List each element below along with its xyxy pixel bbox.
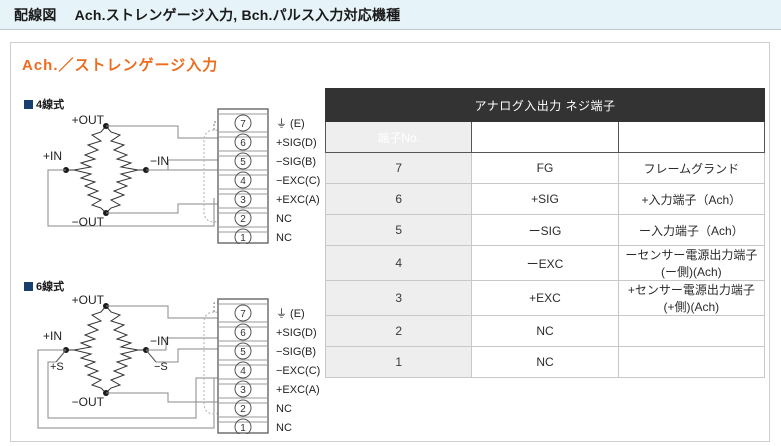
terminal-label-2: NC	[276, 213, 292, 225]
terminal-block-6-wire: 7 6 5 4 3 2 1 ⏚ (E) +SIG(D) −SIG(B) −EXC…	[216, 298, 321, 434]
cell-description: ーセンサー電源出力端子(ー側)(Ach)	[618, 246, 764, 281]
terminal-number-7: 7	[240, 119, 246, 130]
table-row: 6 +SIG +入力端子（Ach）	[326, 184, 765, 215]
cell-signal-name: ーSIG	[472, 215, 618, 246]
table-title: アナログ入出力 ネジ端子	[326, 89, 765, 122]
cell-terminal-no: 6	[326, 184, 472, 215]
terminal-label-5: −SIG(B)	[276, 346, 316, 358]
page-title-subtitle: Ach.ストレンゲージ入力, Bch.パルス入力対応機種	[75, 7, 401, 23]
terminal-number-2: 2	[240, 404, 246, 415]
table-row: 5 ーSIG ー入力端子（Ach）	[326, 215, 765, 246]
terminal-label-6: +SIG(D)	[276, 137, 317, 149]
cell-signal-name: FG	[472, 153, 618, 184]
diagram-4-label-minus-in: −IN	[150, 154, 169, 168]
diagram-6-label-minus-in: −IN	[150, 334, 169, 348]
terminal-label-7: ⏚ (E)	[276, 307, 305, 320]
cell-terminal-no: 5	[326, 215, 472, 246]
cell-signal-name: NC	[472, 316, 618, 347]
terminal-label-1: NC	[276, 422, 292, 434]
cell-terminal-no: 7	[326, 153, 472, 184]
diagram-6-label-minus-out: −OUT	[72, 395, 105, 409]
terminal-label-6: +SIG(D)	[276, 327, 317, 339]
terminal-label-3: +EXC(A)	[276, 194, 320, 206]
cell-description: +センサー電源出力端子(+側)(Ach)	[618, 281, 764, 316]
terminal-number-1: 1	[240, 423, 246, 434]
table-row: 1 NC	[326, 347, 765, 378]
table-row: 3 +EXC +センサー電源出力端子(+側)(Ach)	[326, 281, 765, 316]
table-row: 2 NC	[326, 316, 765, 347]
square-marker-icon	[24, 282, 33, 291]
cell-signal-name: NC	[472, 347, 618, 378]
terminal-number-1: 1	[240, 233, 246, 244]
cell-description	[618, 347, 764, 378]
cell-signal-name: ーEXC	[472, 246, 618, 281]
terminal-number-4: 4	[240, 176, 246, 187]
cell-description: +入力端子（Ach）	[618, 184, 764, 215]
cell-description: ー入力端子（Ach）	[618, 215, 764, 246]
terminal-label-5: −SIG(B)	[276, 156, 316, 168]
terminal-label-3: +EXC(A)	[276, 384, 320, 396]
column-header-terminal-no: 端子No.	[326, 122, 472, 153]
terminal-number-4: 4	[240, 366, 246, 377]
table-row: 4 ーEXC ーセンサー電源出力端子(ー側)(Ach)	[326, 246, 765, 281]
cell-terminal-no: 1	[326, 347, 472, 378]
terminal-label-7: ⏚ (E)	[276, 117, 305, 130]
terminal-label-4: −EXC(C)	[276, 365, 320, 377]
terminal-number-6: 6	[240, 138, 246, 149]
cell-terminal-no: 3	[326, 281, 472, 316]
diagram-4-label-plus-in: +IN	[43, 149, 62, 163]
diagram-6-label-plus-in: +IN	[43, 329, 62, 343]
page-title: 配線図Ach.ストレンゲージ入力, Bch.パルス入力対応機種	[14, 5, 400, 25]
column-header-signal-name: 信号名	[472, 122, 618, 153]
column-header-description: 内容	[618, 122, 764, 153]
terminal-number-6: 6	[240, 328, 246, 339]
terminal-label-2: NC	[276, 403, 292, 415]
terminal-block-4-wire: 7 6 5 4 3 2 1 ⏚ (E) +SIG(D) −SIG(B) −EXC…	[216, 108, 321, 244]
terminal-label-1: NC	[276, 232, 292, 244]
terminal-number-5: 5	[240, 157, 246, 168]
terminal-number-3: 3	[240, 195, 246, 206]
terminal-number-3: 3	[240, 385, 246, 396]
page-title-main: 配線図	[14, 7, 57, 23]
table-row: 7 FG フレームグランド	[326, 153, 765, 184]
diagram-4-label-minus-out: −OUT	[72, 215, 105, 229]
section-heading: Ach.／ストレンゲージ入力	[22, 54, 218, 75]
terminal-number-7: 7	[240, 309, 246, 320]
cell-description: フレームグランド	[618, 153, 764, 184]
cell-signal-name: +SIG	[472, 184, 618, 215]
diagram-6-label-plus-s: +S	[50, 361, 64, 373]
cell-signal-name: +EXC	[472, 281, 618, 316]
page-header-bar: 配線図Ach.ストレンゲージ入力, Bch.パルス入力対応機種	[0, 0, 781, 30]
terminal-assignment-table: アナログ入出力 ネジ端子 端子No. 信号名 内容 7 FG フレームグランド …	[325, 88, 765, 378]
diagram-6-label-plus-out: +OUT	[72, 293, 105, 307]
table-title-row: アナログ入出力 ネジ端子	[326, 89, 765, 122]
terminal-number-2: 2	[240, 214, 246, 225]
cell-description	[618, 316, 764, 347]
cell-terminal-no: 4	[326, 246, 472, 281]
diagram-6-label-minus-s: −S	[154, 361, 168, 373]
terminal-label-4: −EXC(C)	[276, 175, 320, 187]
cell-terminal-no: 2	[326, 316, 472, 347]
table-header-row: 端子No. 信号名 内容	[326, 122, 765, 153]
diagram-4-label-plus-out: +OUT	[72, 113, 105, 127]
terminal-number-5: 5	[240, 347, 246, 358]
